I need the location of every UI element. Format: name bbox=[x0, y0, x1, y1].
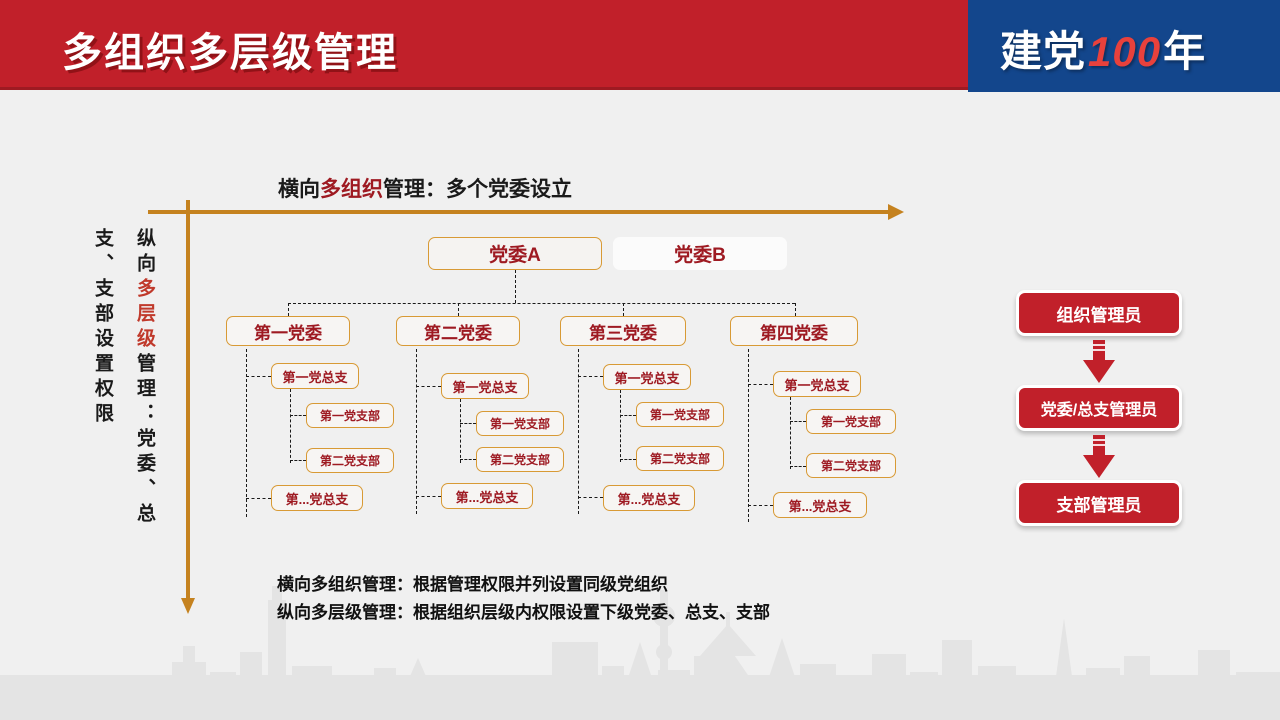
connector-col1-drop bbox=[288, 303, 289, 316]
slide-header: 多组织多层级管理 建党100年 bbox=[0, 0, 1280, 92]
vertical-label-part1: 纵向 bbox=[134, 228, 155, 278]
note-vertical-management: 纵向多层级管理：根据组织层级内权限设置下级党委、总支、支部 bbox=[277, 598, 770, 623]
heading-part2: 管理：多个党委设立 bbox=[383, 178, 572, 201]
tree-col1-branch-2[interactable]: 第二党支部 bbox=[306, 448, 394, 473]
page-title: 多组织多层级管理 bbox=[62, 20, 398, 78]
anniversary-badge: 建党100年 bbox=[1000, 18, 1206, 79]
tree-col2-general-branch-n[interactable]: 第...党总支 bbox=[441, 483, 533, 509]
horizontal-axis-arrowhead bbox=[888, 204, 904, 220]
tree-col3-branch-2[interactable]: 第二党支部 bbox=[636, 446, 724, 471]
tree-col3-general-branch-n[interactable]: 第...党总支 bbox=[603, 485, 695, 511]
connector-col3-drop bbox=[623, 303, 624, 316]
tree-col1-br1-label: 第一党支部 bbox=[320, 407, 380, 424]
tree-col2-br2-label: 第二党支部 bbox=[490, 451, 550, 468]
tree-col3-gb1-link bbox=[578, 376, 603, 377]
tree-col4-br1-label: 第一党支部 bbox=[821, 413, 881, 430]
heading-highlight: 多组织 bbox=[320, 178, 383, 201]
tree-col4-general-branch-1[interactable]: 第一党总支 bbox=[773, 371, 861, 397]
tree-col2-title: 第二党委 bbox=[424, 319, 492, 344]
committee-a-label: 党委A bbox=[489, 240, 541, 267]
connector-committee-a-drop bbox=[515, 270, 516, 303]
committee-b-box[interactable]: 党委B bbox=[613, 237, 787, 270]
role-box-org-admin[interactable]: 组织管理员 bbox=[1016, 290, 1182, 336]
connector-col4-drop bbox=[795, 303, 796, 316]
vertical-axis-arrowhead bbox=[181, 598, 195, 614]
vertical-label-part2: 管理：党委、总 bbox=[134, 353, 155, 528]
tree-col1-title: 第一党委 bbox=[254, 319, 322, 344]
tree-col4-general-branch-n[interactable]: 第...党总支 bbox=[773, 492, 867, 518]
horizontal-axis-line bbox=[148, 210, 890, 214]
tree-col4-branch-2[interactable]: 第二党支部 bbox=[806, 453, 896, 478]
connector-committee-bus bbox=[288, 303, 795, 304]
tree-col4-branch-1[interactable]: 第一党支部 bbox=[806, 409, 896, 434]
tree-col1-br2-label: 第二党支部 bbox=[320, 452, 380, 469]
horizontal-axis-heading: 横向多组织管理：多个党委设立 bbox=[278, 173, 572, 203]
tree-col1-branch-1[interactable]: 第一党支部 bbox=[306, 403, 394, 428]
tree-col1-gbn-label: 第...党总支 bbox=[286, 489, 349, 508]
tree-col4-br2-link bbox=[790, 466, 806, 467]
tree-col3-general-branch-1[interactable]: 第一党总支 bbox=[603, 364, 691, 390]
arrow-down-icon-1 bbox=[1082, 340, 1116, 384]
tree-col1-title-box[interactable]: 第一党委 bbox=[226, 316, 350, 346]
tree-col1-general-branch-n[interactable]: 第...党总支 bbox=[271, 485, 363, 511]
tree-col1-gb1-label: 第一党总支 bbox=[282, 367, 347, 386]
tree-col4-br1-link bbox=[790, 421, 806, 422]
badge-suffix: 年 bbox=[1163, 28, 1206, 75]
tree-col3-br1-link bbox=[620, 415, 636, 416]
vertical-label-highlight: 多层级 bbox=[134, 278, 155, 353]
note-horizontal-management: 横向多组织管理：根据管理权限并列设置同级党组织 bbox=[277, 570, 668, 595]
role-box-org-admin-label: 组织管理员 bbox=[1057, 301, 1142, 326]
tree-col2-gbn-label: 第...党总支 bbox=[456, 487, 519, 506]
vertical-axis-line bbox=[186, 200, 190, 600]
tree-col4-title-box[interactable]: 第四党委 bbox=[730, 316, 858, 346]
tree-col4-br2-label: 第二党支部 bbox=[821, 457, 881, 474]
tree-col2-br1-label: 第一党支部 bbox=[490, 415, 550, 432]
tree-col3-title: 第三党委 bbox=[589, 319, 657, 344]
tree-col3-gbn-label: 第...党总支 bbox=[618, 489, 681, 508]
tree-col4-gb1-link bbox=[748, 384, 773, 385]
tree-col3-br2-link bbox=[620, 459, 636, 460]
badge-number: 100 bbox=[1086, 28, 1163, 75]
tree-col3-gbn-link bbox=[578, 497, 603, 498]
tree-col3-br1-label: 第一党支部 bbox=[650, 406, 710, 423]
tree-col2-general-branch-1[interactable]: 第一党总支 bbox=[441, 373, 529, 399]
tree-col1-br2-link bbox=[290, 460, 306, 461]
tree-col2-br2-link bbox=[460, 459, 476, 460]
role-box-branch-admin[interactable]: 支部管理员 bbox=[1016, 480, 1182, 526]
tree-col2-title-box[interactable]: 第二党委 bbox=[396, 316, 520, 346]
tree-col1-br1-link bbox=[290, 415, 306, 416]
role-box-committee-admin-label: 党委/总支管理员 bbox=[1041, 396, 1157, 420]
tree-col3-branch-1[interactable]: 第一党支部 bbox=[636, 402, 724, 427]
tree-col4-gbn-link bbox=[748, 505, 773, 506]
vertical-axis-label-right-column: 支、支部设置权限 bbox=[92, 228, 112, 618]
tree-col2-gb1-link bbox=[416, 386, 441, 387]
tree-col1-spine bbox=[246, 349, 247, 517]
tree-col3-sub-spine bbox=[620, 390, 621, 462]
vertical-axis-label-left-column: 纵向多层级管理：党委、总 bbox=[134, 228, 154, 618]
tree-col3-spine bbox=[578, 349, 579, 514]
arrow-down-icon-2 bbox=[1082, 435, 1116, 479]
tree-col3-gb1-label: 第一党总支 bbox=[614, 368, 679, 387]
tree-col2-branch-1[interactable]: 第一党支部 bbox=[476, 411, 564, 436]
committee-b-label: 党委B bbox=[674, 240, 726, 267]
tree-col1-general-branch-1[interactable]: 第一党总支 bbox=[271, 363, 359, 389]
heading-part1: 横向 bbox=[278, 178, 320, 201]
tree-col2-gb1-label: 第一党总支 bbox=[452, 377, 517, 396]
tree-col2-br1-link bbox=[460, 423, 476, 424]
role-box-committee-admin[interactable]: 党委/总支管理员 bbox=[1016, 385, 1182, 431]
tree-col4-sub-spine bbox=[790, 397, 791, 469]
tree-col1-gb1-link bbox=[246, 376, 271, 377]
tree-col4-gb1-label: 第一党总支 bbox=[784, 375, 849, 394]
tree-col4-spine bbox=[748, 349, 749, 522]
tree-col4-gbn-label: 第...党总支 bbox=[789, 496, 852, 515]
role-box-branch-admin-label: 支部管理员 bbox=[1057, 491, 1142, 516]
tree-col1-gbn-link bbox=[246, 498, 271, 499]
tree-col3-br2-label: 第二党支部 bbox=[650, 450, 710, 467]
tree-col1-sub-spine bbox=[290, 389, 291, 463]
tree-col4-title: 第四党委 bbox=[760, 319, 828, 344]
vertical-label-text: 支、支部设置权限 bbox=[92, 228, 113, 428]
committee-a-box[interactable]: 党委A bbox=[428, 237, 602, 270]
tree-col2-sub-spine bbox=[460, 399, 461, 463]
tree-col2-branch-2[interactable]: 第二党支部 bbox=[476, 447, 564, 472]
connector-col2-drop bbox=[458, 303, 459, 316]
tree-col2-spine bbox=[416, 349, 417, 514]
badge-prefix: 建党 bbox=[1000, 28, 1086, 75]
tree-col2-gbn-link bbox=[416, 496, 441, 497]
tree-col3-title-box[interactable]: 第三党委 bbox=[560, 316, 686, 346]
